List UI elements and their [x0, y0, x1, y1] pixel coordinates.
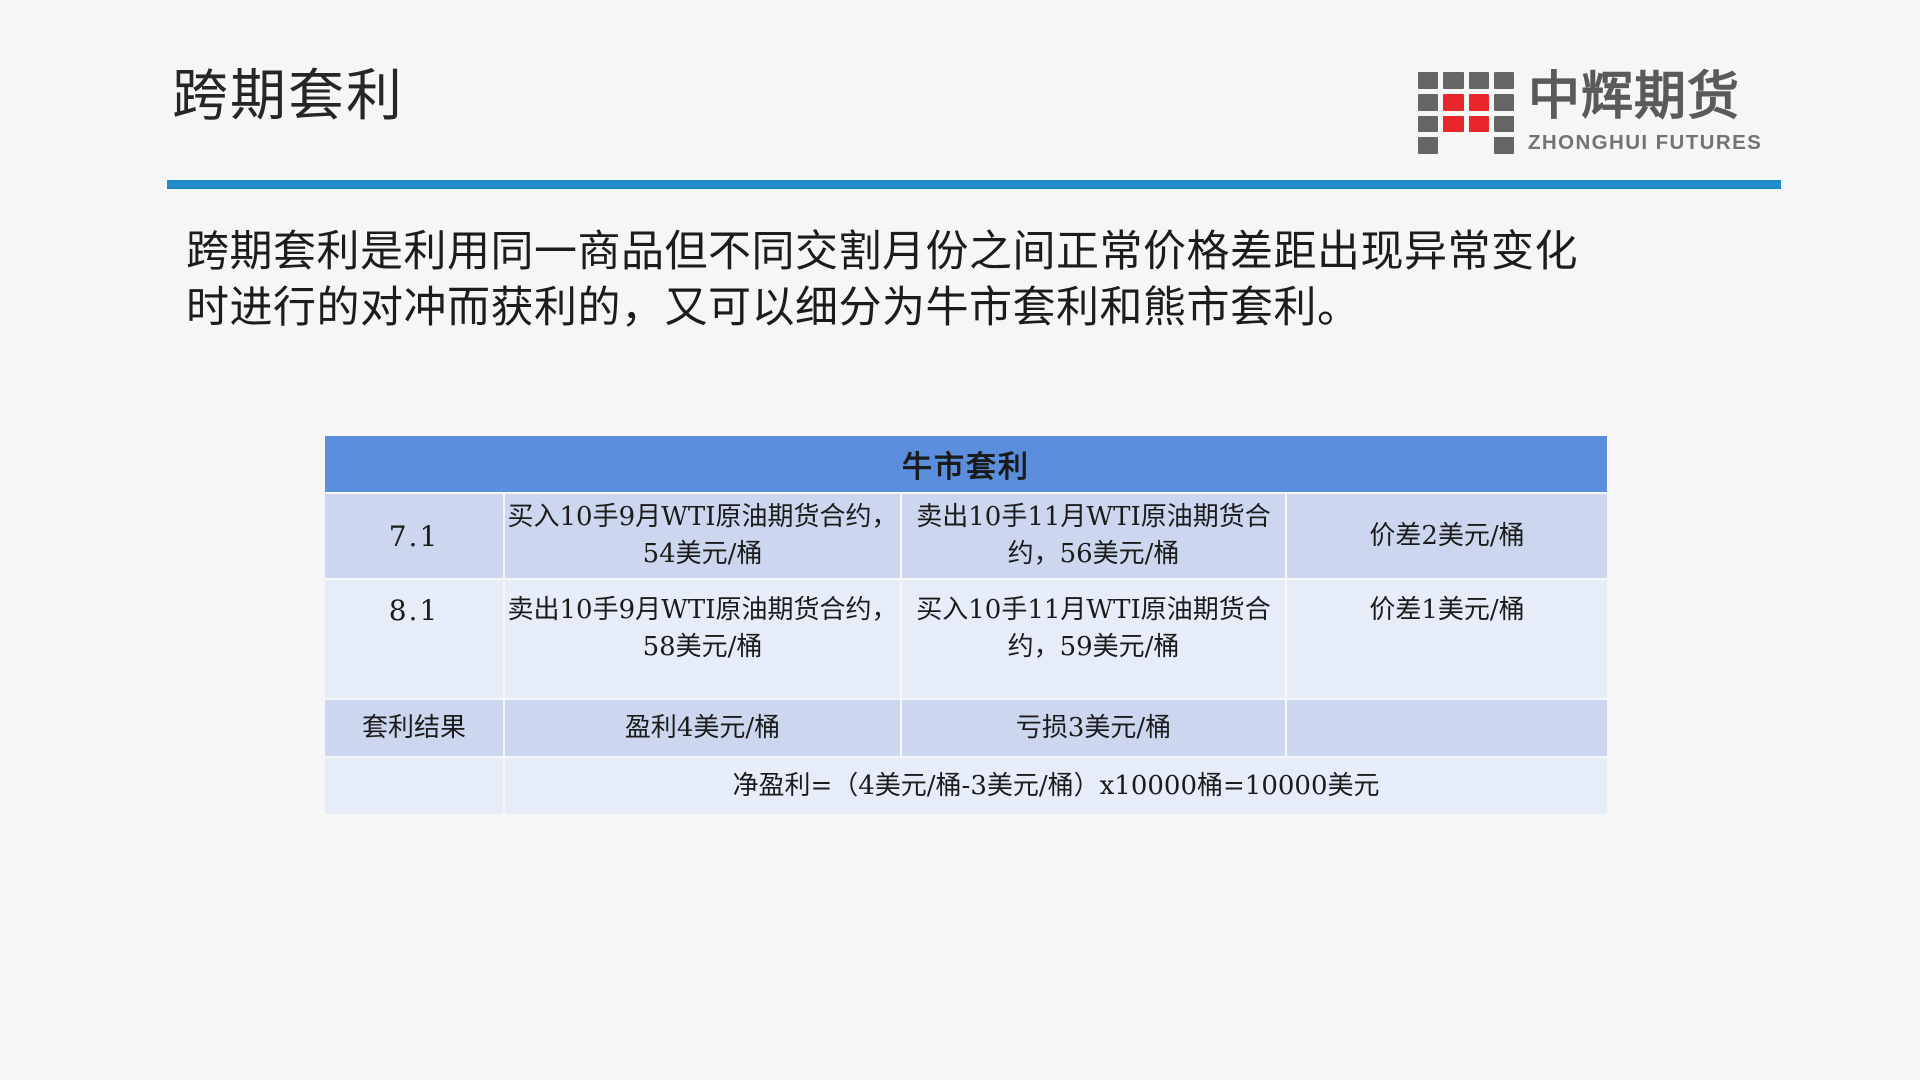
logo-cell [1494, 116, 1514, 133]
logo-grid-icon [1418, 72, 1514, 154]
cell-leg-sell: 卖出10手11月WTI原油期货合约，56美元/桶 [902, 494, 1285, 578]
logo-cell [1418, 94, 1438, 111]
cell-net-profit-summary: 净盈利=（4美元/桶-3美元/桶）x10000桶=10000美元 [505, 758, 1607, 814]
logo-cell-blank [1469, 137, 1489, 154]
slide-canvas: 跨期套利 中 [0, 0, 1920, 1080]
cell-spread: 价差2美元/桶 [1287, 494, 1607, 578]
cell-spread: 价差1美元/桶 [1287, 580, 1607, 698]
logo-cell [1494, 72, 1514, 89]
bull-spread-table: 牛市套利 7.1 买入10手9月WTI原油期货合约，54美元/桶 卖出10手11… [323, 434, 1609, 816]
title-divider [167, 180, 1781, 189]
logo-cell [1418, 72, 1438, 89]
logo-cell [1418, 116, 1438, 133]
logo-cell [1418, 137, 1438, 154]
table-row: 套利结果 盈利4美元/桶 亏损3美元/桶 [325, 700, 1607, 756]
logo-cell-red [1443, 116, 1463, 133]
slide-header: 跨期套利 中 [0, 0, 1920, 200]
cell-result-loss: 亏损3美元/桶 [902, 700, 1285, 756]
company-logo: 中辉期货 ZHONGHUI FUTURES [1418, 66, 1782, 162]
logo-cell [1494, 137, 1514, 154]
table-title: 牛市套利 [325, 436, 1607, 492]
logo-cell-red [1443, 94, 1463, 111]
cell-result-label: 套利结果 [325, 700, 503, 756]
cell-result-profit: 盈利4美元/桶 [505, 700, 900, 756]
logo-chinese-name: 中辉期货 [1528, 66, 1782, 128]
cell-empty [1287, 700, 1607, 756]
cell-date: 7.1 [325, 494, 503, 578]
body-paragraph: 跨期套利是利用同一商品但不同交割月份之间正常价格差距出现异常变化 时进行的对冲而… [186, 224, 1776, 336]
logo-cell [1469, 72, 1489, 89]
table-summary-row: 净盈利=（4美元/桶-3美元/桶）x10000桶=10000美元 [325, 758, 1607, 814]
logo-cell [1494, 94, 1514, 111]
cell-empty [325, 758, 503, 814]
table-header-row: 牛市套利 [325, 436, 1607, 492]
cell-leg-sell: 卖出10手9月WTI原油期货合约，58美元/桶 [505, 580, 900, 698]
logo-cell-red [1469, 116, 1489, 133]
body-line-1: 跨期套利是利用同一商品但不同交割月份之间正常价格差距出现异常变化 [186, 224, 1776, 280]
page-title: 跨期套利 [172, 66, 404, 128]
cell-leg-buy: 买入10手9月WTI原油期货合约，54美元/桶 [505, 494, 900, 578]
logo-cell-blank [1443, 137, 1463, 154]
logo-cell [1443, 72, 1463, 89]
table-row: 8.1 卖出10手9月WTI原油期货合约，58美元/桶 买入10手11月WTI原… [325, 580, 1607, 698]
logo-english-name: ZHONGHUI FUTURES [1528, 130, 1782, 156]
cell-date: 8.1 [325, 580, 503, 698]
body-line-2: 时进行的对冲而获利的，又可以细分为牛市套利和熊市套利。 [186, 280, 1776, 336]
logo-wordmark: 中辉期货 ZHONGHUI FUTURES [1528, 66, 1782, 162]
logo-cell-red [1469, 94, 1489, 111]
cell-leg-buy: 买入10手11月WTI原油期货合约，59美元/桶 [902, 580, 1285, 698]
table-row: 7.1 买入10手9月WTI原油期货合约，54美元/桶 卖出10手11月WTI原… [325, 494, 1607, 578]
